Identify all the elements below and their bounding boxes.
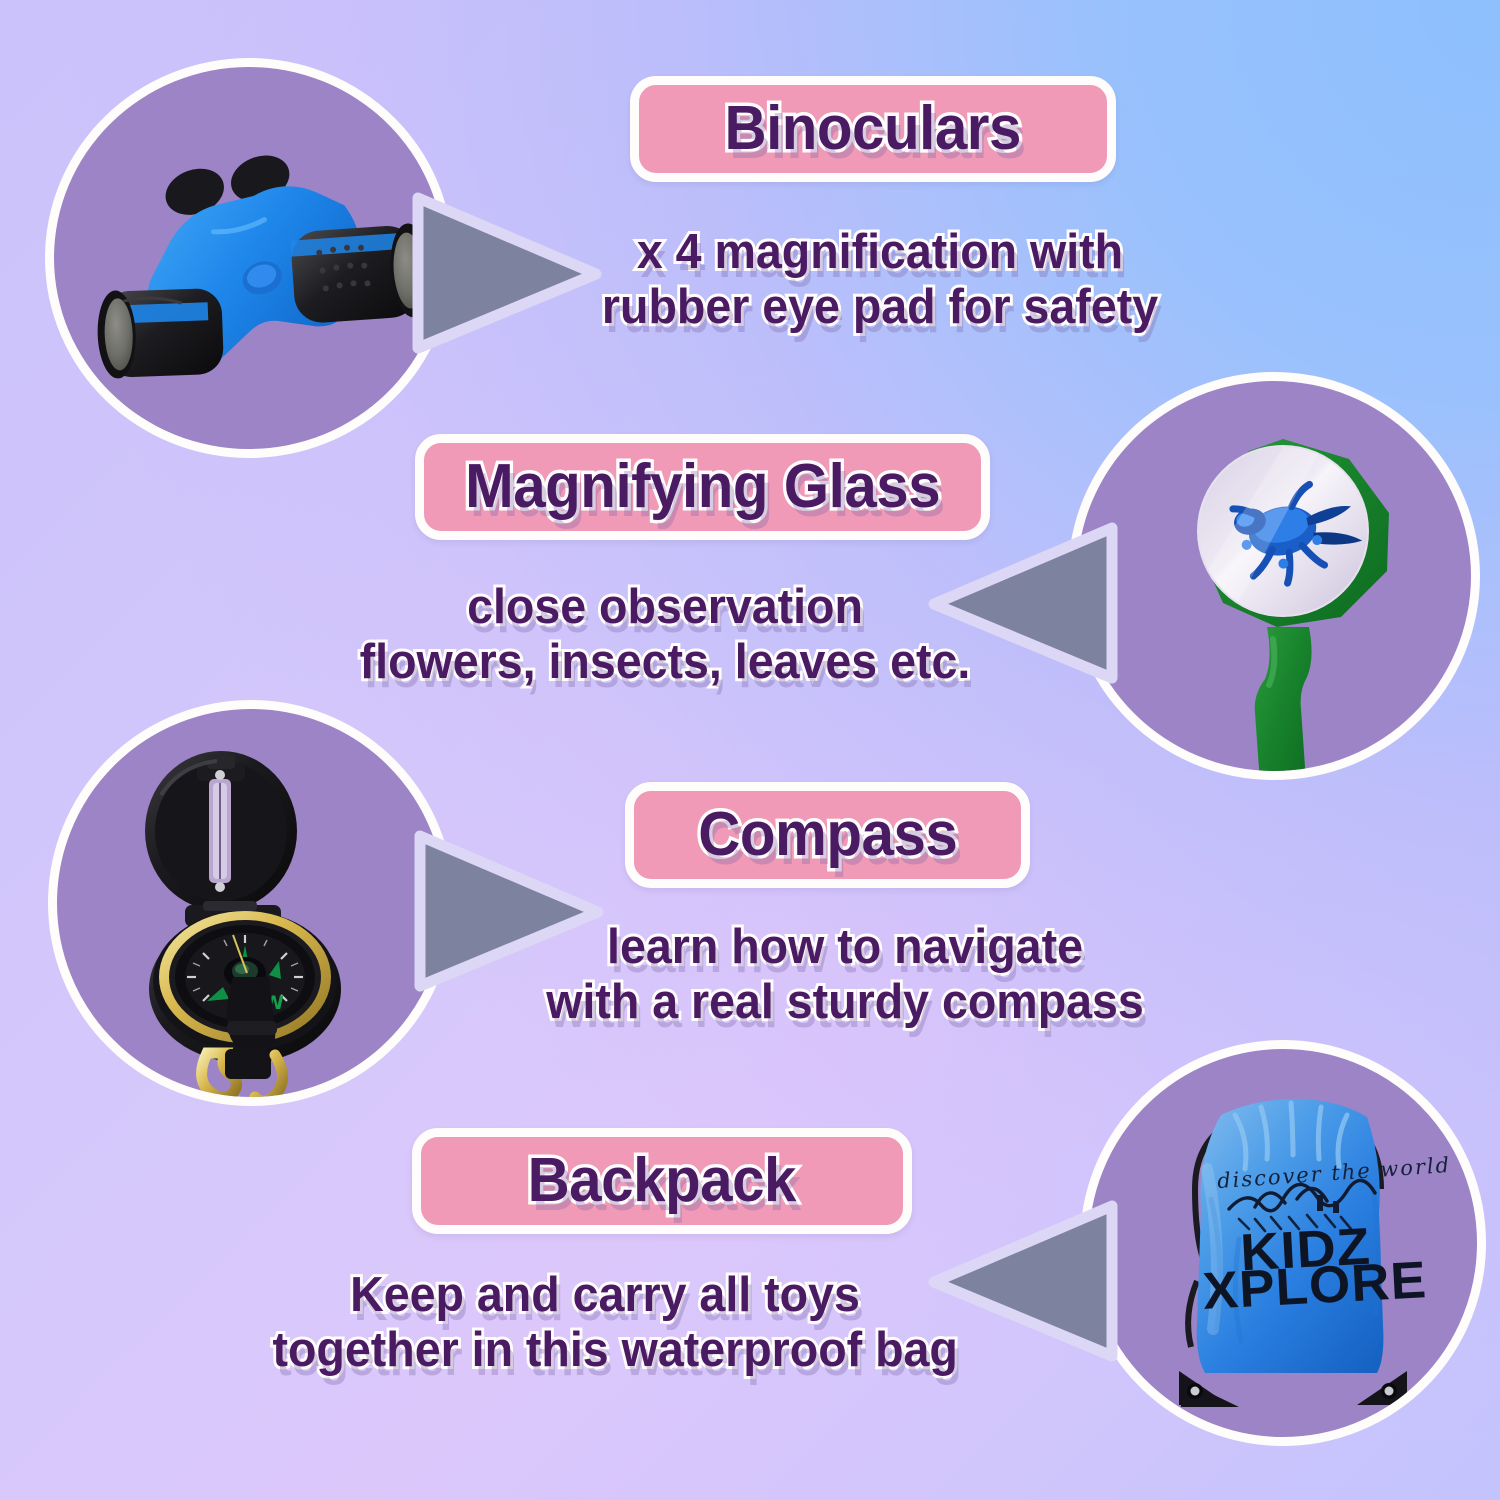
binoculars-photo [45, 58, 453, 458]
caption-line: flowers, insects, leaves etc. [352, 635, 979, 690]
compass-photo: W [48, 700, 454, 1106]
backpack-photo: discover the world KIDZ XPLORE [1080, 1040, 1486, 1446]
feature-title: Binoculars [725, 97, 1021, 160]
caption-magnifying-glass: close observation flowers, insects, leav… [352, 580, 979, 691]
caption-line: close observation [352, 580, 979, 635]
caption-backpack: Keep and carry all toys together in this… [273, 1268, 938, 1379]
magnifying-glass-photo [1068, 372, 1480, 780]
banner-backpack: Backpack [412, 1128, 912, 1234]
binoculars-image [54, 67, 444, 449]
banner-binoculars: Binoculars [630, 76, 1116, 182]
caption-compass: learn how to navigate with a real sturdy… [536, 920, 1154, 1031]
banner-magnifying-glass: Magnifying Glass [415, 434, 990, 540]
magnifier-illustration [1077, 381, 1480, 780]
caption-line: Keep and carry all toys [273, 1268, 938, 1323]
caption-line: x 4 magnification with [581, 225, 1180, 280]
backpack-image: discover the world KIDZ XPLORE [1089, 1049, 1477, 1437]
caption-line: with a real sturdy compass [536, 975, 1154, 1030]
compass-image: W [57, 709, 445, 1097]
caption-line: rubber eye pad for safety [581, 280, 1180, 335]
compass-illustration: W [57, 709, 454, 1106]
magnifying-glass-image [1077, 381, 1471, 771]
caption-line: together in this waterproof bag [273, 1323, 938, 1378]
arrow-binoculars [412, 190, 602, 355]
caption-line: learn how to navigate [536, 920, 1154, 975]
product-feature-poster: Binoculars x 4 magnification with rubber… [0, 0, 1500, 1500]
binoculars-illustration [54, 67, 453, 458]
feature-title: Backpack [528, 1149, 796, 1212]
feature-title: Compass [698, 803, 957, 866]
feature-title: Magnifying Glass [465, 455, 940, 518]
backpack-brand-xplore: XPLORE [1202, 1257, 1428, 1316]
caption-binoculars: x 4 magnification with rubber eye pad fo… [581, 225, 1180, 336]
banner-compass: Compass [625, 782, 1030, 888]
